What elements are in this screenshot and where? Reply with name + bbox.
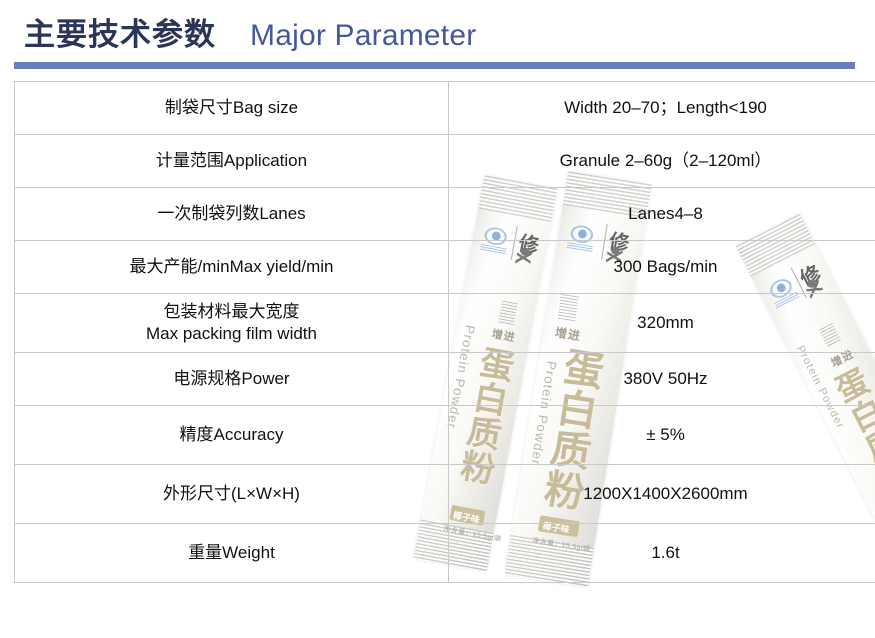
- title-underline-rule: [14, 62, 855, 69]
- spec-label-accuracy: 精度Accuracy: [15, 406, 449, 465]
- table-row: 制袋尺寸Bag size Width 20–70；Length<190: [15, 82, 875, 135]
- specifications-table: 制袋尺寸Bag size Width 20–70；Length<190 计量范围…: [14, 81, 875, 583]
- table-row: 精度Accuracy ± 5%: [15, 406, 875, 465]
- page-title: 主要技术参数 Major Parameter: [24, 19, 476, 51]
- spec-value-film-width: 320mm: [449, 294, 875, 353]
- page-header: 主要技术参数 Major Parameter: [0, 0, 875, 72]
- table-row: 一次制袋列数Lanes Lanes4–8: [15, 188, 875, 241]
- spec-label-film-width-cn: 包装材料最大宽度: [21, 301, 442, 323]
- table-row: 最大产能/minMax yield/min 300 Bags/min: [15, 241, 875, 294]
- page-title-english: Major Parameter: [250, 21, 476, 51]
- spec-label-dimensions: 外形尺寸(L×W×H): [15, 465, 449, 524]
- spec-label-application: 计量范围Application: [15, 135, 449, 188]
- specifications-table-body: 制袋尺寸Bag size Width 20–70；Length<190 计量范围…: [15, 82, 875, 583]
- spec-value-weight: 1.6t: [449, 524, 875, 583]
- table-row: 重量Weight 1.6t: [15, 524, 875, 583]
- spec-label-bag-size: 制袋尺寸Bag size: [15, 82, 449, 135]
- page-title-chinese: 主要技术参数: [24, 19, 216, 50]
- spec-label-power: 电源规格Power: [15, 353, 449, 406]
- spec-value-accuracy: ± 5%: [449, 406, 875, 465]
- spec-label-weight: 重量Weight: [15, 524, 449, 583]
- spec-value-lanes: Lanes4–8: [449, 188, 875, 241]
- table-row: 计量范围Application Granule 2–60g（2–120ml）: [15, 135, 875, 188]
- spec-value-dimensions: 1200X1400X2600mm: [449, 465, 875, 524]
- table-row: 电源规格Power 380V 50Hz: [15, 353, 875, 406]
- spec-label-film-width: 包装材料最大宽度 Max packing film width: [15, 294, 449, 353]
- table-row: 包装材料最大宽度 Max packing film width 320mm: [15, 294, 875, 353]
- spec-label-film-width-en: Max packing film width: [21, 323, 442, 345]
- spec-label-max-yield: 最大产能/minMax yield/min: [15, 241, 449, 294]
- spec-value-power: 380V 50Hz: [449, 353, 875, 406]
- spec-value-max-yield: 300 Bags/min: [449, 241, 875, 294]
- spec-value-bag-size: Width 20–70；Length<190: [449, 82, 875, 135]
- spec-label-lanes: 一次制袋列数Lanes: [15, 188, 449, 241]
- spec-value-application: Granule 2–60g（2–120ml）: [449, 135, 875, 188]
- table-row: 外形尺寸(L×W×H) 1200X1400X2600mm: [15, 465, 875, 524]
